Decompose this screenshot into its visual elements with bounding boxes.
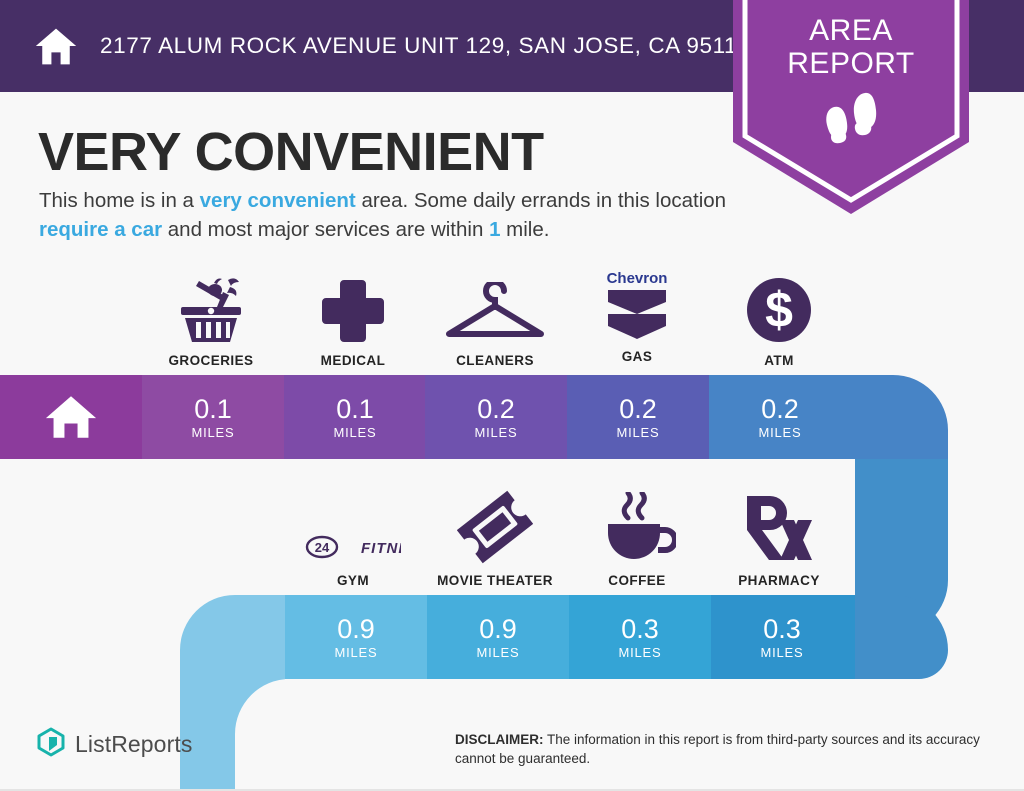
summary-part-3: and most major services are within	[162, 218, 489, 241]
amenity-pharmacy: PHARMACY	[708, 492, 850, 588]
amenity-coffee: COFFEE	[566, 492, 708, 588]
distance-medical: 0.1 MILES	[284, 375, 426, 459]
svg-text:FITNESS: FITNESS	[361, 540, 401, 557]
atm-dollar-icon: $	[708, 272, 850, 344]
distance-gas: 0.2 MILES	[567, 375, 709, 459]
brand-name: ListReports	[75, 731, 192, 758]
svg-text:Chevron: Chevron	[607, 270, 668, 287]
distance-value: 0.3	[763, 615, 801, 644]
summary-highlight-2: require a car	[39, 218, 162, 241]
distance-value: 0.1	[336, 395, 374, 424]
amenity-gym: 24 FITNESS GYM	[282, 492, 424, 588]
property-address: 2177 ALUM ROCK AVENUE UNIT 129, SAN JOSE…	[100, 33, 750, 59]
distance-coffee: 0.3 MILES	[569, 595, 711, 679]
rx-pharmacy-icon	[708, 492, 850, 564]
medical-cross-icon	[282, 272, 424, 344]
amenity-label: GYM	[282, 573, 424, 588]
amenity-atm: $ ATM	[708, 272, 850, 368]
distance-unit: MILES	[334, 645, 377, 660]
24-fitness-icon: 24 FITNESS	[282, 492, 424, 564]
summary-part-1: This home is in a	[39, 189, 200, 212]
amenity-label: GAS	[566, 349, 708, 364]
grocery-basket-icon	[140, 272, 282, 344]
amenity-label: ATM	[708, 353, 850, 368]
home-icon	[34, 24, 78, 68]
distance-groceries: 0.1 MILES	[142, 375, 284, 459]
summary-part-4: mile.	[500, 218, 549, 241]
amenity-label: GROCERIES	[140, 353, 282, 368]
amenity-label: MEDICAL	[282, 353, 424, 368]
distance-cleaners: 0.2 MILES	[425, 375, 567, 459]
amenity-gas: Chevron GAS	[566, 268, 708, 364]
movie-ticket-icon	[424, 492, 566, 564]
distance-value: 0.2	[761, 395, 799, 424]
home-icon	[44, 393, 98, 441]
origin-home-segment	[0, 375, 142, 459]
summary-part-2: area. Some daily errands in this locatio…	[356, 189, 726, 212]
disclaimer-label: DISCLAIMER:	[455, 732, 544, 747]
amenity-movie-theater: MOVIE THEATER	[424, 492, 566, 588]
distance-unit: MILES	[618, 645, 661, 660]
distance-atm: 0.2 MILES	[709, 375, 851, 459]
distance-pharmacy: 0.3 MILES	[711, 595, 853, 679]
distance-unit: MILES	[474, 425, 517, 440]
amenity-medical: MEDICAL	[282, 272, 424, 368]
summary-highlight-1: very convenient	[200, 189, 356, 212]
amenity-label: MOVIE THEATER	[424, 573, 566, 588]
distance-gym: 0.9 MILES	[285, 595, 427, 679]
distance-value: 0.2	[477, 395, 515, 424]
distance-value: 0.9	[337, 615, 375, 644]
distance-value: 0.9	[479, 615, 517, 644]
distance-unit: MILES	[333, 425, 376, 440]
distance-value: 0.3	[621, 615, 659, 644]
clothes-hanger-icon	[424, 272, 566, 344]
distance-unit: MILES	[616, 425, 659, 440]
disclaimer: DISCLAIMER: The information in this repo…	[455, 730, 995, 768]
svg-text:24: 24	[315, 540, 330, 555]
amenity-label: PHARMACY	[708, 573, 850, 588]
amenity-label: COFFEE	[566, 573, 708, 588]
distance-unit: MILES	[191, 425, 234, 440]
listreports-logo-icon	[36, 726, 66, 763]
distance-unit: MILES	[758, 425, 801, 440]
summary-highlight-3: 1	[489, 218, 500, 241]
brand-logo: ListReports	[36, 726, 192, 763]
distance-movie-theater: 0.9 MILES	[427, 595, 569, 679]
coffee-cup-icon	[566, 492, 708, 564]
amenity-label: CLEANERS	[424, 353, 566, 368]
area-report-page: 2177 ALUM ROCK AVENUE UNIT 129, SAN JOSE…	[0, 0, 1024, 791]
page-title: VERY CONVENIENT	[38, 121, 544, 183]
distance-value: 0.2	[619, 395, 657, 424]
chevron-gas-icon: Chevron	[566, 268, 708, 340]
summary-text: This home is in a very convenient area. …	[39, 186, 729, 244]
amenity-cleaners: CLEANERS	[424, 272, 566, 368]
amenity-groceries: GROCERIES	[140, 272, 282, 368]
distance-unit: MILES	[760, 645, 803, 660]
distance-value: 0.1	[194, 395, 232, 424]
area-report-badge: AREA REPORT	[733, 0, 969, 214]
distance-unit: MILES	[476, 645, 519, 660]
svg-text:$: $	[765, 282, 793, 338]
header-content: 2177 ALUM ROCK AVENUE UNIT 129, SAN JOSE…	[34, 0, 750, 92]
